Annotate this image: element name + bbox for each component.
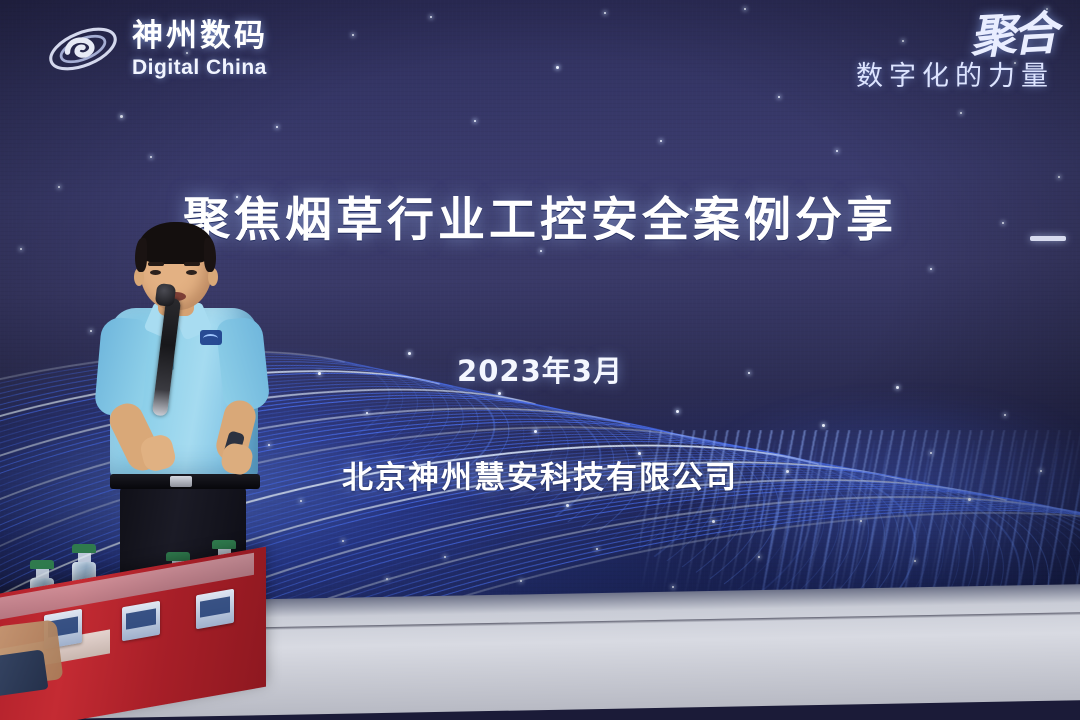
bottle-cap (212, 540, 236, 549)
logo-english-name: Digital China (132, 57, 268, 78)
digital-china-swirl-icon (44, 18, 122, 80)
presenter-hair-side-left (135, 238, 147, 272)
presenter-eye-left (150, 270, 161, 275)
name-card-insert (126, 608, 156, 629)
presenter-left-sleeve (94, 316, 150, 418)
presenter-belt-buckle (170, 476, 192, 487)
presenter-right-sleeve (215, 316, 270, 412)
name-card-insert (200, 596, 230, 617)
stage-photo: 神州数码 Digital China 聚合 数字化的力量 聚焦烟草行业工控安全案… (0, 0, 1080, 720)
presenter-hair-side-right (204, 238, 216, 272)
presenter-eye-right (186, 270, 197, 275)
name-card (122, 601, 160, 642)
microphone-head-icon (155, 283, 177, 307)
logo-chinese-name: 神州数码 (132, 21, 268, 52)
presenter-eyebrow-left (148, 262, 164, 266)
event-brand-calligraphy: 聚合 (969, 12, 1055, 59)
presenter-eyebrow-right (184, 262, 200, 266)
presenter-chest-logo-icon (200, 330, 222, 345)
digital-china-logo: 神州数码 Digital China (44, 18, 268, 80)
bottle-cap (30, 560, 54, 569)
name-card (196, 589, 234, 630)
event-brand: 聚合 数字化的力量 (856, 14, 1054, 93)
bottle-cap (72, 544, 96, 553)
bottle-neck (36, 569, 49, 578)
bottle-neck (78, 553, 91, 562)
